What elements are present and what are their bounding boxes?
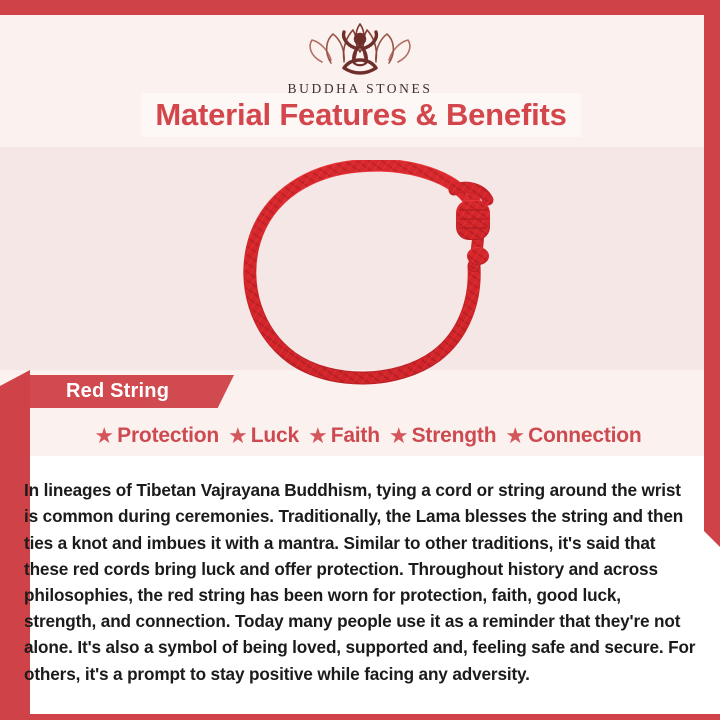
title-banner: Material Features & Benefits [141,93,581,137]
description-text: In lineages of Tibetan Vajrayana Buddhis… [24,477,696,687]
product-tag: Red String [30,375,234,408]
feature-label: Protection [117,424,219,448]
lotus-meditation-icon [300,18,420,80]
star-icon: ★ [308,425,328,447]
bottom-red-border [0,714,720,720]
feature-item: ★ Faith [308,424,380,448]
star-icon: ★ [94,425,114,447]
feature-item: ★ Protection [94,424,219,448]
product-image-red-string-bracelet [240,160,500,390]
poster-canvas: BUDDHA STONES Material Features & Benefi… [0,0,720,720]
feature-item: ★ Luck [228,424,299,448]
star-icon: ★ [505,425,525,447]
feature-label: Luck [251,424,299,448]
star-icon: ★ [389,425,409,447]
page-title: Material Features & Benefits [155,97,566,133]
features-row: ★ Protection ★ Luck ★ Faith ★ Strength ★… [30,420,706,452]
brand-logo: BUDDHA STONES [0,18,720,97]
top-red-border [0,0,720,15]
feature-item: ★ Connection [505,424,641,448]
feature-label: Faith [331,424,380,448]
product-tag-label: Red String [66,380,169,403]
feature-label: Connection [528,424,642,448]
feature-item: ★ Strength [389,424,496,448]
feature-label: Strength [412,424,497,448]
star-icon: ★ [228,425,248,447]
